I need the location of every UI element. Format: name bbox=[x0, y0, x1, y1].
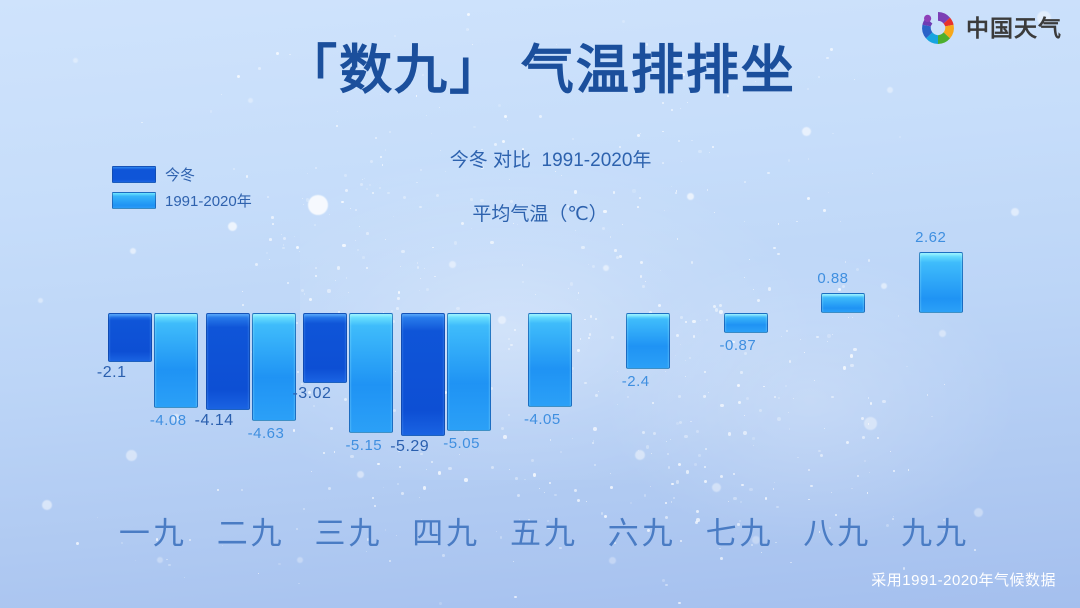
x-axis-label-1: 一九 bbox=[104, 508, 202, 553]
legend-label-current: 今冬 bbox=[165, 164, 195, 185]
x-axis-label-8: 八九 bbox=[788, 508, 886, 553]
bar-chart-plot-area: -2.1-4.08-4.14-4.63-3.02-5.15-5.29-5.05-… bbox=[104, 200, 984, 500]
x-axis-label-9: 九九 bbox=[886, 508, 984, 553]
value-label-normal-9: 2.62 bbox=[915, 229, 946, 246]
x-axis-label-5: 五九 bbox=[495, 508, 593, 553]
x-axis-label-4: 四九 bbox=[397, 508, 495, 553]
legend-swatch-current bbox=[112, 166, 156, 183]
x-axis-label-3: 三九 bbox=[300, 508, 398, 553]
x-axis-label-7: 七九 bbox=[691, 508, 789, 553]
chart-x-axis: 一九二九三九四九五九六九七九八九九九 bbox=[104, 508, 984, 552]
x-axis-label-2: 二九 bbox=[202, 508, 300, 553]
bar-normal-9 bbox=[919, 252, 963, 313]
x-axis-label-6: 六九 bbox=[593, 508, 691, 553]
bar-group-9: 2.62 bbox=[104, 200, 984, 500]
data-source-note: 采用1991-2020年气候数据 bbox=[871, 569, 1056, 590]
page-title: 「数九」 气温排排坐 bbox=[0, 28, 1080, 104]
legend-item-current: 今冬 bbox=[112, 163, 252, 185]
infographic-canvas: 中国天气 「数九」 气温排排坐 今冬 对比 1991-2020年 平均气温（℃）… bbox=[0, 0, 1080, 608]
subtitle-line-1: 今冬 对比 1991-2020年 bbox=[450, 150, 652, 171]
